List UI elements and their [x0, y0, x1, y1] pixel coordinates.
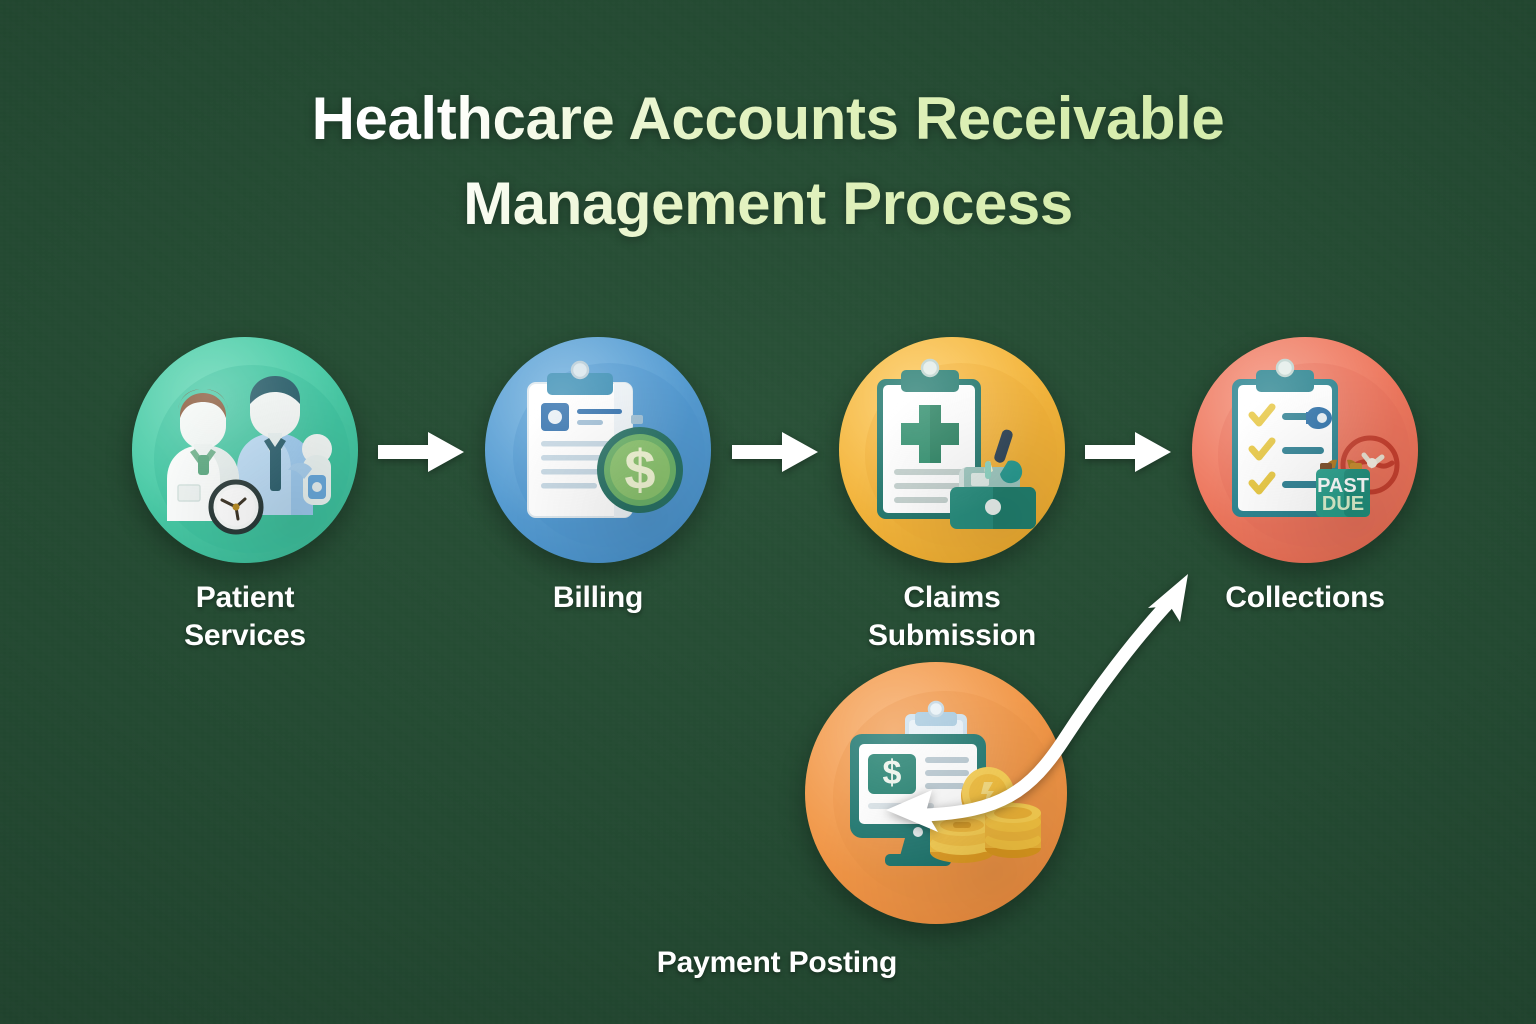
step-collections[interactable]: PAST DUE Collections — [1189, 337, 1421, 617]
step-claims-submission-circle[interactable] — [839, 337, 1065, 563]
step-payment-posting-label: Payment Posting — [646, 944, 908, 982]
arrow-collections-payment-loop — [880, 560, 1210, 850]
arrow-claims-to-collections — [1081, 422, 1177, 482]
step-billing-circle[interactable]: $ — [485, 337, 711, 563]
svg-text:$: $ — [624, 438, 655, 501]
past-due-line2: DUE — [1322, 493, 1364, 515]
step-patient-services[interactable]: Patient Services — [129, 337, 361, 656]
step-billing[interactable]: $ Billing — [482, 337, 714, 617]
infographic-canvas: Healthcare Accounts Receivable Managemen… — [0, 0, 1536, 1024]
checklist-past-due-icon: PAST DUE — [1192, 337, 1418, 563]
step-patient-services-label: Patient Services — [129, 579, 361, 656]
step-collections-circle[interactable]: PAST DUE — [1192, 337, 1418, 563]
doctor-nurse-patient-icon — [132, 337, 358, 563]
medical-clipboard-kit-icon — [839, 337, 1065, 563]
step-billing-label: Billing — [482, 579, 714, 617]
page-title: Healthcare Accounts Receivable Managemen… — [0, 76, 1536, 246]
step-collections-label: Collections — [1189, 579, 1421, 617]
arrow-billing-to-claims — [728, 422, 824, 482]
invoice-clipboard-dollar-icon: $ — [485, 337, 711, 563]
step-patient-services-circle[interactable] — [132, 337, 358, 563]
arrow-patient-to-billing — [374, 422, 470, 482]
